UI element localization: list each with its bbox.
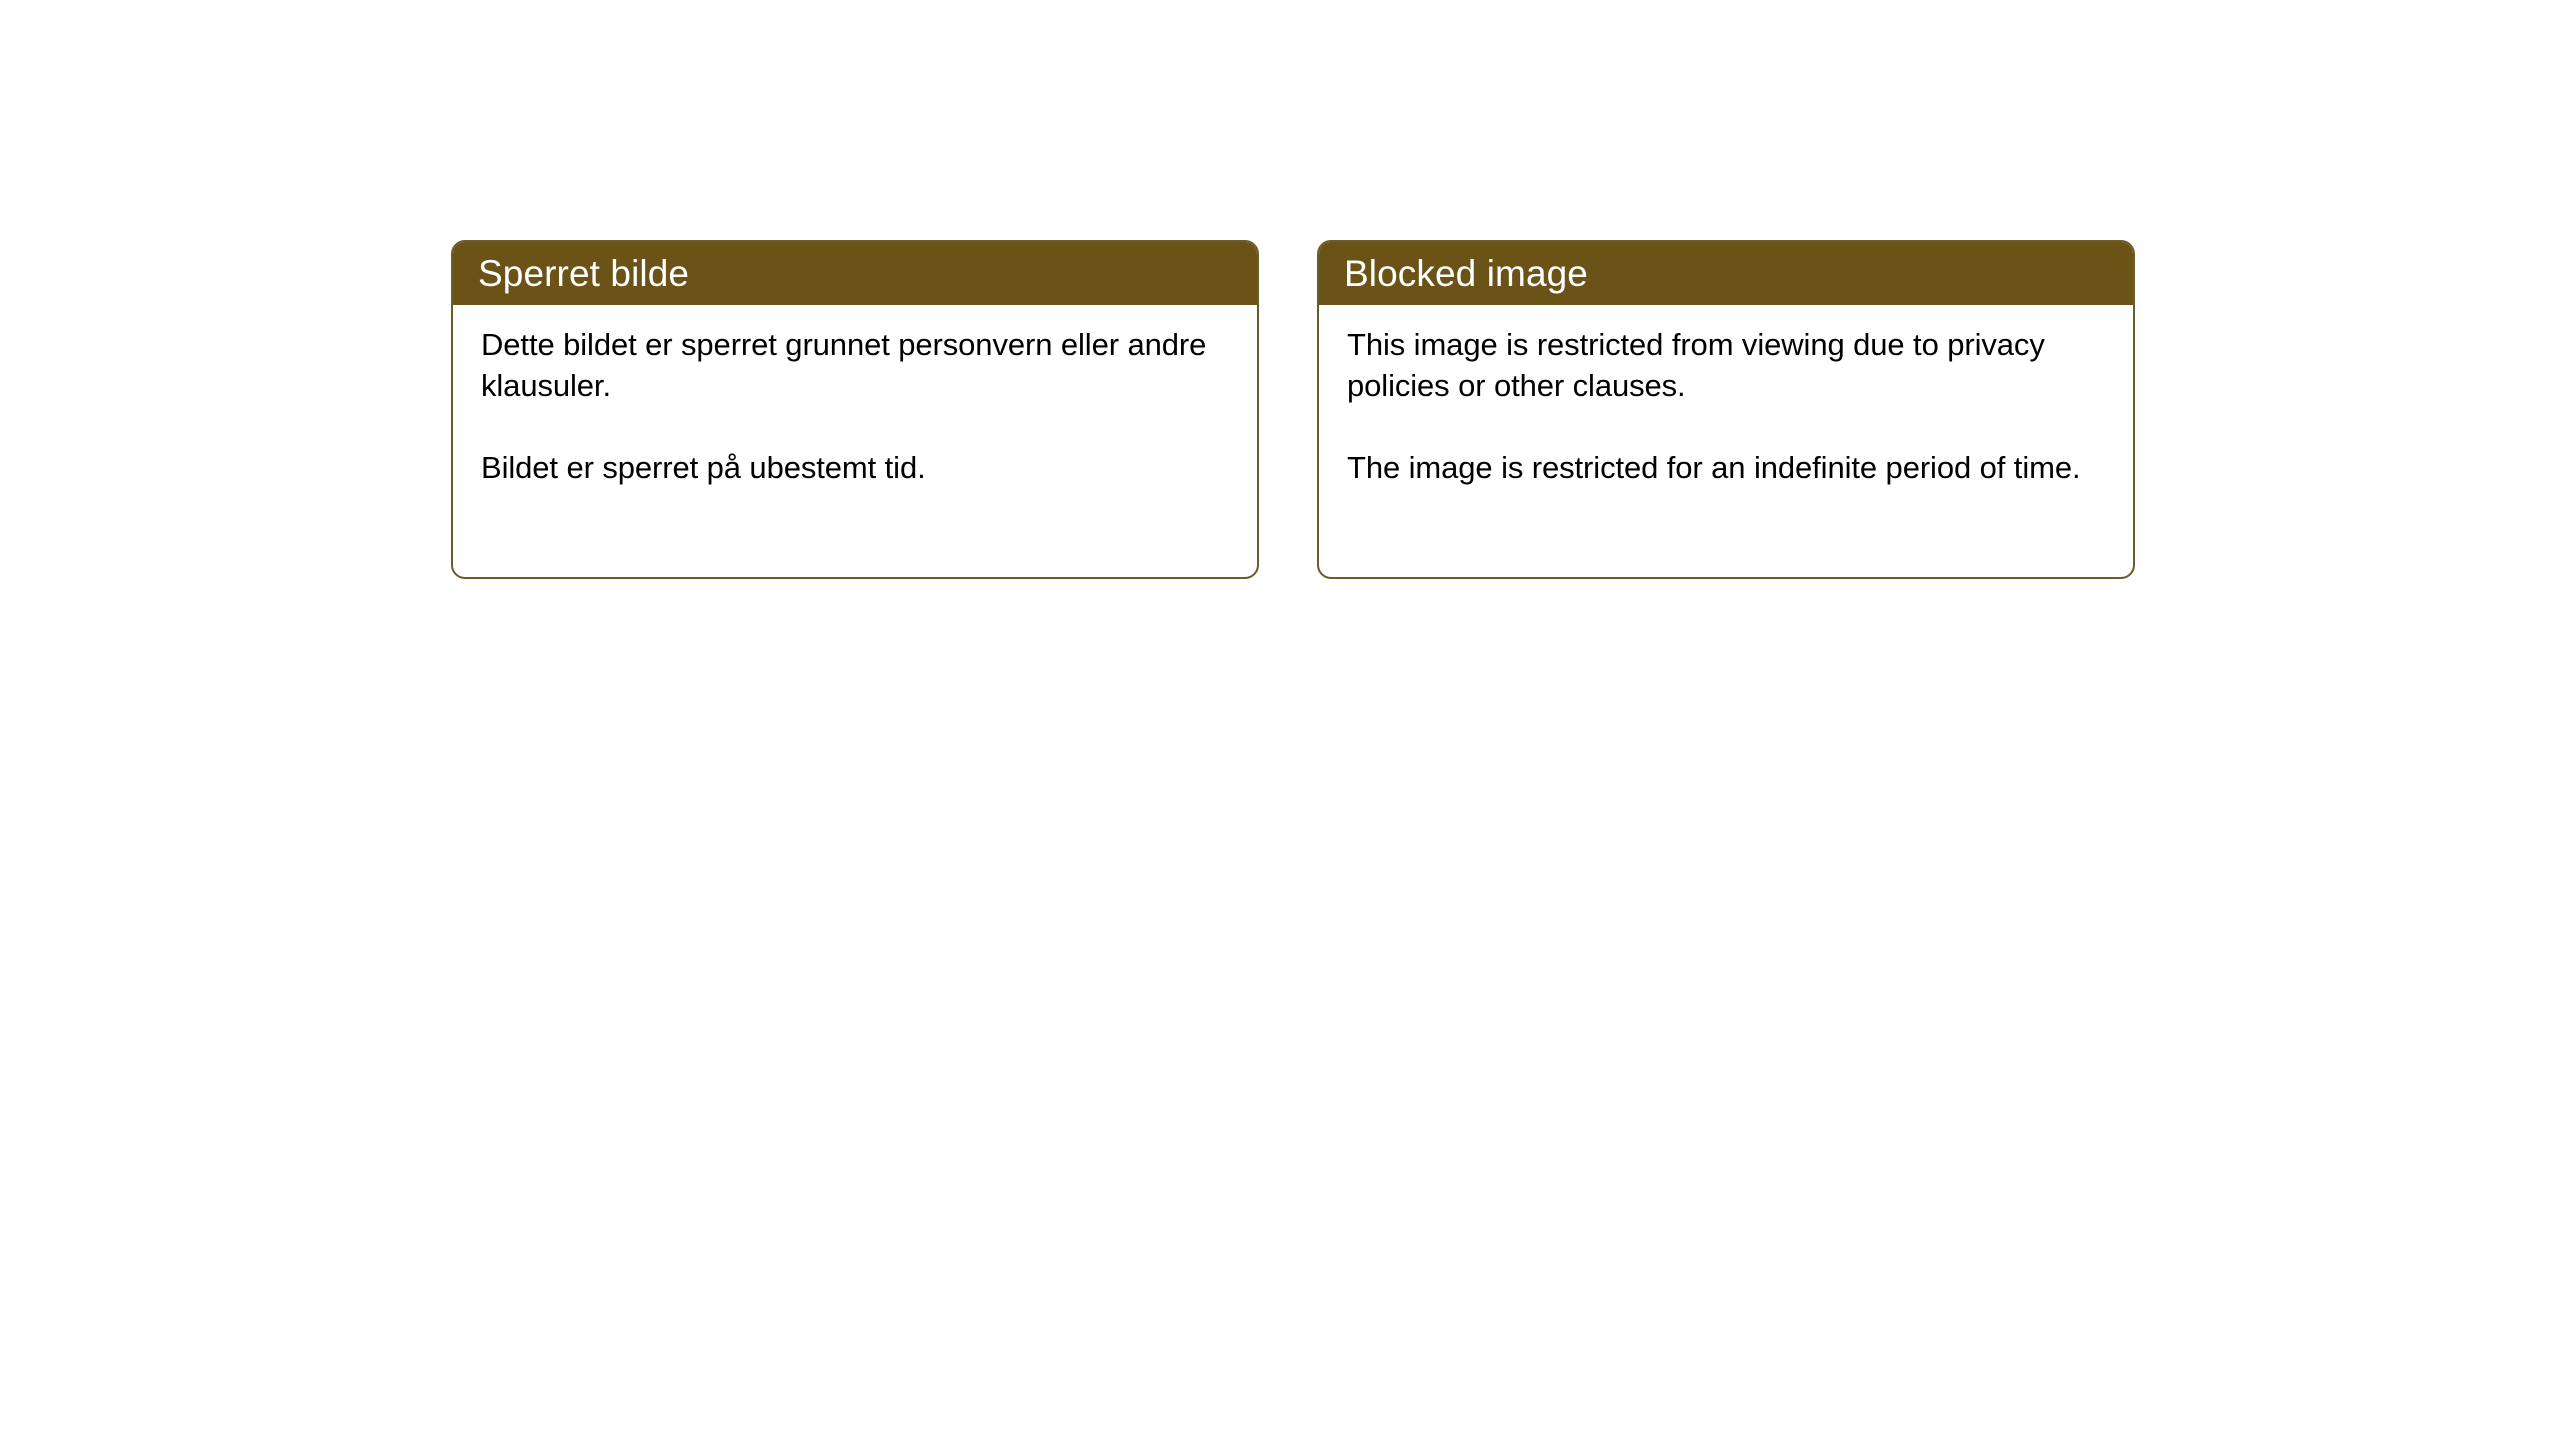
blocked-image-notice-card-en: Blocked image This image is restricted f… [1317, 240, 2135, 579]
blocked-image-notice-card-no: Sperret bilde Dette bildet er sperret gr… [451, 240, 1259, 579]
card-paragraph-no-1: Dette bildet er sperret grunnet personve… [481, 325, 1229, 406]
card-body-en: This image is restricted from viewing du… [1319, 305, 2133, 489]
card-header-en: Blocked image [1319, 242, 2133, 305]
card-body-no: Dette bildet er sperret grunnet personve… [453, 305, 1257, 489]
card-header-no: Sperret bilde [453, 242, 1257, 305]
card-paragraph-en-1: This image is restricted from viewing du… [1347, 325, 2105, 406]
card-title-en: Blocked image [1344, 255, 1588, 292]
card-paragraph-en-2: The image is restricted for an indefinit… [1347, 448, 2105, 489]
card-title-no: Sperret bilde [478, 255, 689, 292]
page-canvas: Sperret bilde Dette bildet er sperret gr… [0, 0, 2560, 1440]
card-paragraph-no-2: Bildet er sperret på ubestemt tid. [481, 448, 1229, 489]
